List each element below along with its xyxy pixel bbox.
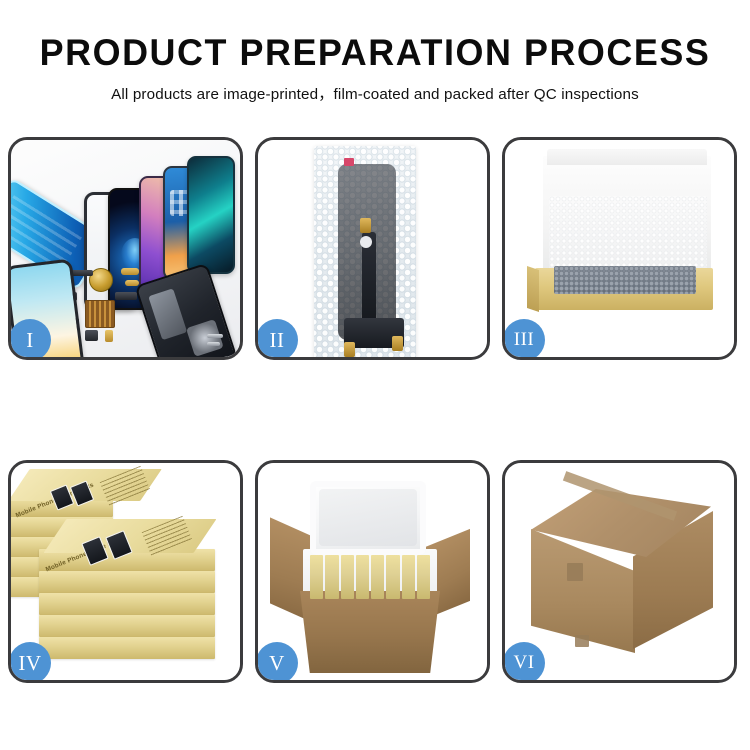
gold-connector-right-image bbox=[392, 336, 403, 351]
chip-array-part-image bbox=[85, 300, 115, 328]
stacked-box bbox=[39, 593, 215, 615]
panel-2-image bbox=[258, 140, 487, 357]
page-header: PRODUCT PREPARATION PROCESS All products… bbox=[0, 0, 750, 104]
panel-5-image bbox=[258, 463, 487, 680]
taptic-part-image bbox=[85, 330, 98, 341]
power-flex-part-image bbox=[125, 280, 139, 286]
white-foam-sheet-image bbox=[549, 196, 707, 274]
screwdriver-part-image bbox=[207, 334, 223, 338]
process-step-panel-5[interactable]: V bbox=[255, 460, 490, 683]
step-badge-5: V bbox=[256, 642, 298, 683]
step-badge-1: I bbox=[9, 319, 51, 360]
white-connector-image bbox=[360, 236, 372, 248]
process-step-panel-6[interactable]: VI bbox=[502, 460, 737, 683]
grey-foam-insert-image bbox=[554, 266, 696, 294]
packed-box bbox=[386, 555, 399, 599]
packed-boxes-row bbox=[310, 555, 430, 599]
stacked-box bbox=[39, 571, 215, 593]
process-step-panel-2[interactable]: II bbox=[255, 137, 490, 360]
stacked-box bbox=[39, 637, 215, 659]
packed-box bbox=[417, 555, 430, 599]
process-step-panel-4[interactable]: Mobile Phone Spare Parts Mobile Phone Sp… bbox=[8, 460, 243, 683]
packed-box bbox=[402, 555, 415, 599]
camera-flex-part-image bbox=[115, 292, 137, 300]
screw-set-part-image bbox=[105, 330, 113, 342]
teal-wave-phone-image bbox=[187, 156, 235, 274]
panel-1-image bbox=[11, 140, 240, 357]
bubble-wrap-bag-image bbox=[314, 146, 416, 357]
stacked-box bbox=[39, 615, 215, 637]
packed-box bbox=[341, 555, 354, 599]
tweezers-part-image bbox=[207, 342, 220, 346]
step-badge-3: III bbox=[503, 319, 545, 360]
panel-3-image bbox=[505, 140, 734, 357]
step-badge-6: VI bbox=[503, 642, 545, 683]
carton-label-upper-image bbox=[567, 563, 583, 581]
packed-box bbox=[356, 555, 369, 599]
page-title: PRODUCT PREPARATION PROCESS bbox=[11, 0, 739, 73]
box-stack-image: Mobile Phone Spare Parts Mobile Phone Sp… bbox=[11, 463, 240, 680]
step-badge-2: II bbox=[256, 319, 298, 360]
step-badge-4: IV bbox=[9, 642, 51, 683]
carton-label-lower-image bbox=[575, 635, 589, 647]
packed-box bbox=[310, 555, 323, 599]
packed-box bbox=[325, 555, 338, 599]
panel-4-image: Mobile Phone Spare Parts Mobile Phone Sp… bbox=[11, 463, 240, 680]
red-label-sticker-image bbox=[344, 158, 354, 166]
gold-connector-top-image bbox=[360, 218, 371, 233]
foam-lid-image bbox=[310, 481, 426, 555]
packed-box bbox=[371, 555, 384, 599]
page-subtitle: All products are image-printed，film-coat… bbox=[0, 73, 750, 104]
gold-connector-left-image bbox=[344, 342, 355, 357]
process-steps-grid: I II III bbox=[8, 137, 742, 683]
process-step-panel-1[interactable]: I bbox=[8, 137, 243, 360]
process-step-panel-3[interactable]: III bbox=[502, 137, 737, 360]
panel-6-image bbox=[505, 463, 734, 680]
button-flex-part-image bbox=[121, 268, 139, 275]
carton-body-image bbox=[300, 591, 440, 673]
